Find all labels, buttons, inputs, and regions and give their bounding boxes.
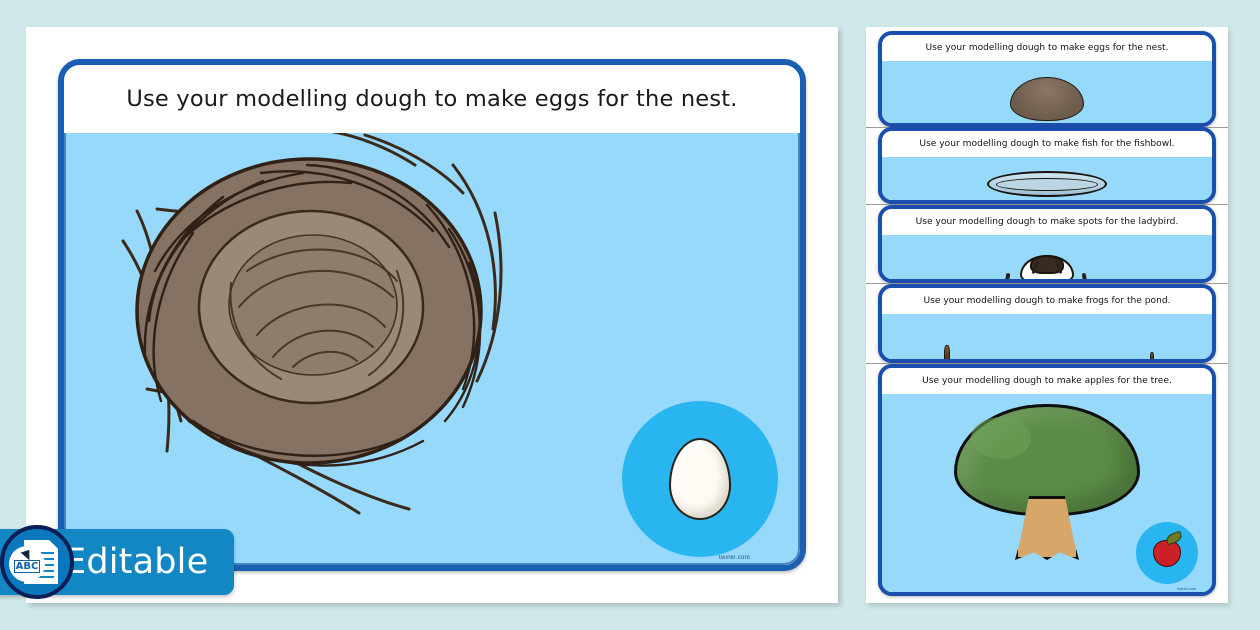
thumbnail-title-band: Use your modelling dough to make apples … — [882, 368, 1212, 394]
watermark: twinkl.com — [1177, 586, 1196, 591]
thumbnail-illustration — [882, 61, 1212, 123]
thumbnail-title: Use your modelling dough to make eggs fo… — [926, 43, 1169, 53]
reed-icon — [1150, 352, 1154, 359]
leg-right-icon — [1082, 273, 1089, 279]
worksheet-illustration-area: twinkl.com — [64, 133, 800, 565]
apple-icon — [1153, 540, 1181, 567]
antenna-left-icon — [1031, 260, 1039, 274]
thumbnail-panel[interactable]: Use your modelling dough to make eggs fo… — [866, 27, 1228, 603]
thumbnail-illustration — [882, 157, 1212, 200]
thumbnail-title-band: Use your modelling dough to make eggs fo… — [882, 35, 1212, 61]
thumbnail-title-band: Use your modelling dough to make spots f… — [882, 209, 1212, 235]
main-preview-card[interactable]: Use your modelling dough to make eggs fo… — [26, 27, 838, 603]
thumbnail-illustration — [882, 235, 1212, 279]
abc-text: ABC — [14, 560, 41, 573]
thumbnail-title: Use your modelling dough to make apples … — [922, 376, 1172, 386]
nest-illustration — [92, 133, 522, 521]
egg-icon — [669, 438, 731, 520]
egg-badge — [622, 401, 778, 557]
thumbnail-title-band: Use your modelling dough to make fish fo… — [882, 131, 1212, 157]
abc-badge-icon: ABC — [9, 546, 45, 582]
worksheet-title-band: Use your modelling dough to make eggs fo… — [64, 65, 800, 133]
editable-badge[interactable]: Editable ABC — [0, 528, 234, 596]
editable-document-icon: ABC — [0, 525, 74, 599]
apple-badge — [1136, 522, 1198, 584]
thumbnail-illustration — [882, 314, 1212, 359]
nest-icon — [1010, 77, 1084, 121]
thumbnail-title: Use your modelling dough to make fish fo… — [919, 139, 1174, 149]
thumbnail-illustration: twinkl.com — [882, 394, 1212, 592]
thumbnail-title-band: Use your modelling dough to make frogs f… — [882, 288, 1212, 314]
fishbowl-icon — [987, 171, 1107, 197]
thumbnail-card-1[interactable]: Use your modelling dough to make eggs fo… — [878, 31, 1216, 127]
thumbnail-card-2[interactable]: Use your modelling dough to make fish fo… — [878, 127, 1216, 204]
thumbnail-card-3[interactable]: Use your modelling dough to make spots f… — [878, 205, 1216, 283]
leg-left-icon — [1004, 273, 1011, 279]
thumbnail-title: Use your modelling dough to make frogs f… — [923, 296, 1170, 306]
thumbnail-card-4[interactable]: Use your modelling dough to make frogs f… — [878, 284, 1216, 363]
antenna-right-icon — [1054, 260, 1062, 274]
reed-icon — [944, 345, 950, 359]
tree-icon — [954, 404, 1140, 564]
thumbnail-card-5[interactable]: Use your modelling dough to make apples … — [878, 364, 1216, 596]
worksheet-page: Use your modelling dough to make eggs fo… — [58, 59, 806, 571]
thumbnail-title: Use your modelling dough to make spots f… — [916, 217, 1179, 227]
editable-label: Editable — [64, 542, 208, 582]
watermark: twinkl.com — [719, 555, 750, 561]
ladybird-icon — [1020, 255, 1074, 279]
worksheet-title: Use your modelling dough to make eggs fo… — [126, 86, 737, 112]
